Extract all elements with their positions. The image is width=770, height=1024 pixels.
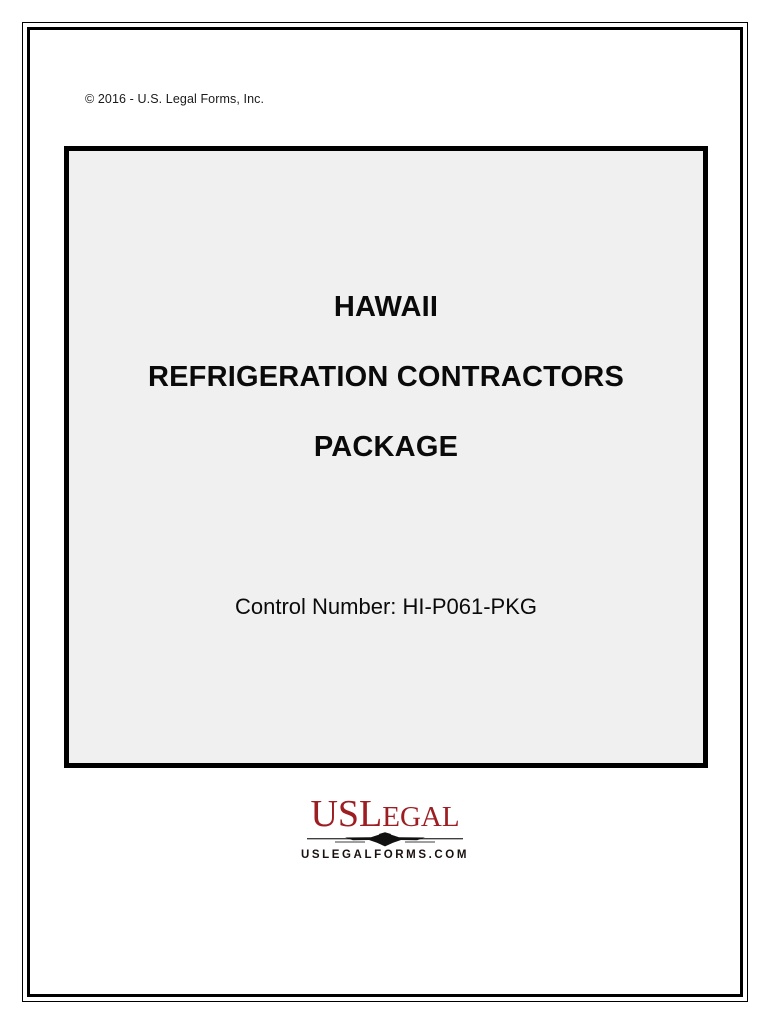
control-number: Control Number: HI-P061-PKG xyxy=(69,594,703,620)
page-title-line-3: PACKAGE xyxy=(69,433,703,462)
wordmark-l: L xyxy=(359,793,382,835)
document-title-block: HAWAII REFRIGERATION CONTRACTORS PACKAGE xyxy=(69,293,703,462)
copyright-notice: © 2016 - U.S. Legal Forms, Inc. xyxy=(85,92,264,106)
logo-domain-text: USLEGALFORMS.COM xyxy=(0,849,770,861)
wordmark-us: US xyxy=(310,793,359,835)
uslegal-wordmark: USLEGAL xyxy=(0,795,770,833)
page-title-line-2: REFRIGERATION CONTRACTORS xyxy=(69,363,703,392)
page-title-line-1: HAWAII xyxy=(69,293,703,322)
cover-content-box: HAWAII REFRIGERATION CONTRACTORS PACKAGE… xyxy=(64,146,708,768)
document-page: © 2016 - U.S. Legal Forms, Inc. HAWAII R… xyxy=(0,0,770,1024)
uslegal-logo: USLEGAL USLEGALFORMS.COM xyxy=(0,795,770,861)
wordmark-egal: EGAL xyxy=(382,801,459,833)
